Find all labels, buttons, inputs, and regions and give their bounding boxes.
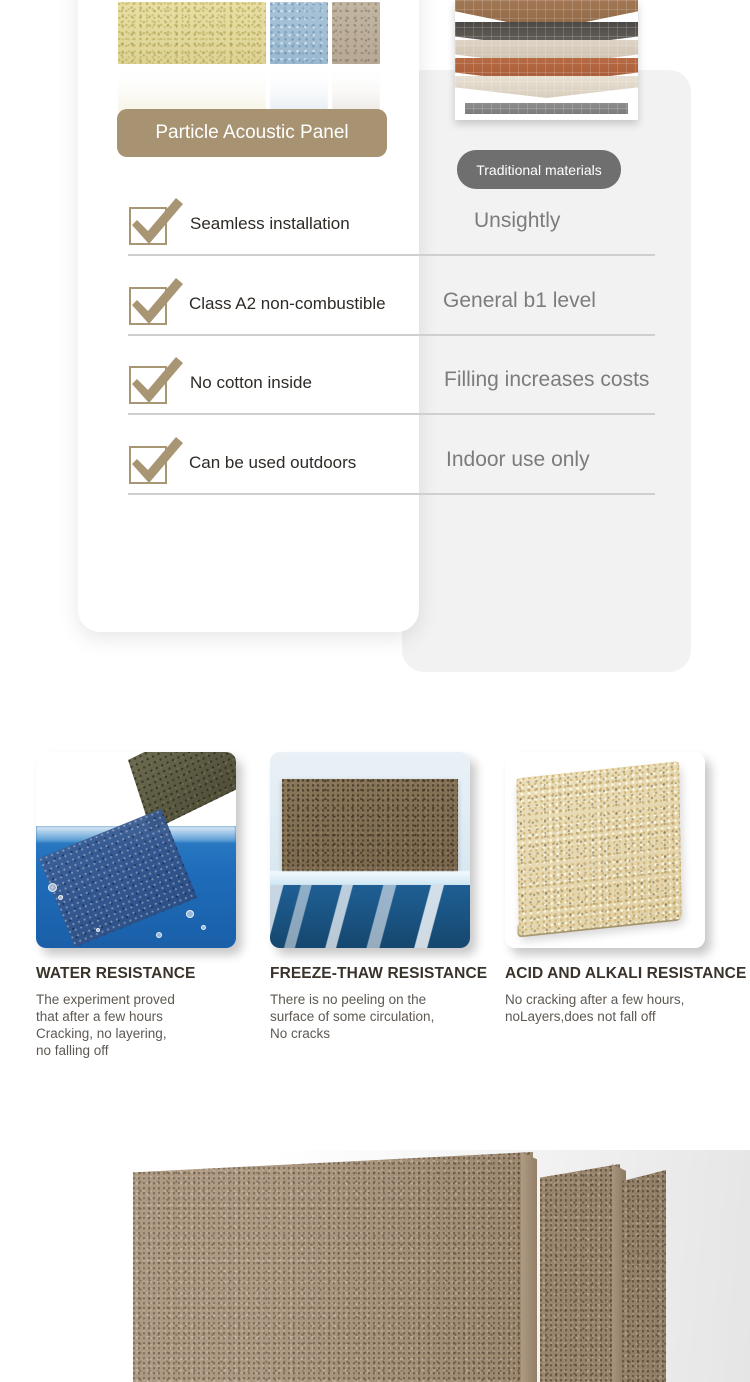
hero-panels-image [0, 1150, 750, 1382]
comparison-left-label: Can be used outdoors [189, 453, 356, 473]
bubble-icon [96, 928, 100, 932]
feature-description: The experiment proved that after a few h… [36, 991, 252, 1059]
beige-panel [516, 761, 682, 936]
comparison-row: No cotton inside Filling increases costs [0, 355, 750, 434]
checkmark-icon [129, 198, 183, 244]
comparison-left-label: Seamless installation [190, 214, 350, 234]
comparison-right-label: General b1 level [443, 289, 596, 313]
secondary-product-badge: Traditional materials [457, 150, 621, 189]
comparison-left-label: No cotton inside [190, 373, 312, 393]
panel-front [133, 1152, 533, 1382]
row-divider [128, 493, 655, 495]
checkmark-icon [129, 357, 183, 403]
comparison-right-label: Indoor use only [446, 448, 590, 472]
comparison-right-label: Unsightly [474, 209, 560, 233]
comparison-row: Class A2 non-combustible General b1 leve… [0, 276, 750, 355]
bubble-icon [58, 895, 63, 900]
particle-panel-photo [118, 2, 380, 114]
panel-back [622, 1170, 666, 1382]
comparison-row: Seamless installation Unsightly [0, 196, 750, 275]
row-divider [128, 254, 655, 256]
brown-panel [282, 779, 458, 883]
checkmark-glyph [131, 278, 183, 324]
feature-card-acid-alkali-resistance: ACID AND ALKALI RESISTANCE No cracking a… [505, 752, 721, 1025]
panel-middle [540, 1164, 620, 1382]
feature-card-water-resistance: WATER RESISTANCE The experiment proved t… [36, 752, 252, 1059]
traditional-material-photo [455, 0, 638, 120]
feature-title: ACID AND ALKALI RESISTANCE [505, 965, 721, 983]
checkmark-glyph [131, 198, 183, 244]
checkmark-icon [129, 437, 183, 483]
yellow-panel-reflection [118, 64, 266, 112]
checkmark-glyph [131, 437, 183, 483]
row-divider [128, 413, 655, 415]
bubble-icon [186, 910, 194, 918]
feature-cards-section: WATER RESISTANCE The experiment proved t… [0, 752, 750, 1072]
ice-surface [270, 871, 470, 885]
feature-title: WATER RESISTANCE [36, 965, 252, 983]
tan-panel-sample [332, 2, 380, 64]
bubble-icon [201, 925, 206, 930]
tan-panel-reflection [332, 64, 380, 112]
blue-panel-sample [270, 2, 328, 64]
bubble-icon [48, 883, 57, 892]
pixelation-overlay [455, 0, 638, 120]
comparison-section: Particle Acoustic Panel Traditional mate… [0, 0, 750, 700]
feature-title: FREEZE-THAW RESISTANCE [270, 965, 486, 983]
ice-body [270, 885, 470, 948]
row-divider [128, 334, 655, 336]
comparison-right-label: Filling increases costs [444, 368, 649, 392]
acid-alkali-resistance-image [505, 752, 705, 948]
feature-description: There is no peeling on the surface of so… [270, 991, 486, 1042]
freeze-thaw-resistance-image [270, 752, 470, 948]
comparison-row: Can be used outdoors Indoor use only [0, 435, 750, 514]
primary-product-badge: Particle Acoustic Panel [117, 109, 387, 157]
checkmark-glyph [131, 357, 183, 403]
feature-card-freeze-thaw-resistance: FREEZE-THAW RESISTANCE There is no peeli… [270, 752, 486, 1042]
checkmark-icon [129, 278, 183, 324]
comparison-left-label: Class A2 non-combustible [189, 294, 386, 314]
bubble-icon [156, 932, 162, 938]
feature-description: No cracking after a few hours, noLayers,… [505, 991, 721, 1025]
yellow-panel-sample [118, 2, 266, 64]
blue-panel-reflection [270, 64, 328, 112]
water-resistance-image [36, 752, 236, 948]
panel-front-edge [521, 1152, 537, 1382]
